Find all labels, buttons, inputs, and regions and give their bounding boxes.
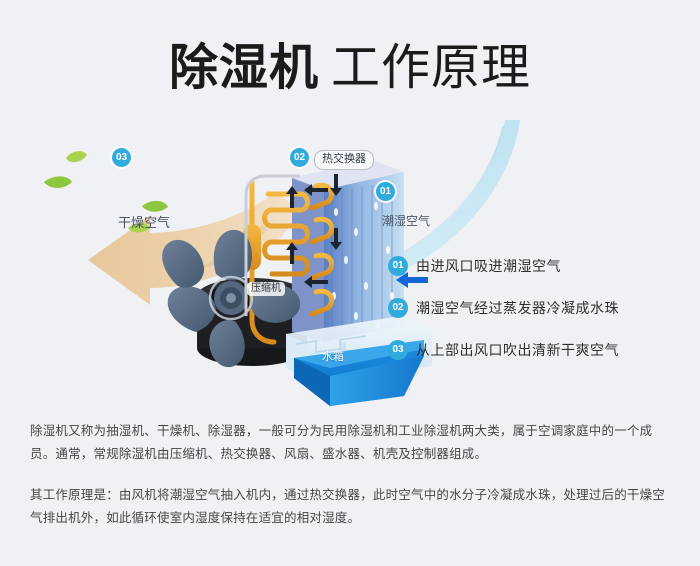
paragraph-1: 除湿机又称为抽湿机、干燥机、除湿器，一般可分为民用除湿机和工业除湿机两大类，属于… bbox=[30, 420, 675, 466]
illustration-badge-01: 01 bbox=[376, 182, 395, 201]
illustration-badge-02: 02 bbox=[290, 148, 309, 167]
dry-air-label: 干燥空气 bbox=[118, 212, 170, 231]
illustration-badge-03: 03 bbox=[112, 148, 131, 167]
step-list: 01 由进风口吸进潮湿空气 02 潮湿空气经过蒸发器冷凝成水珠 03 从上部出风… bbox=[388, 255, 688, 381]
step-item-02: 02 潮湿空气经过蒸发器冷凝成水珠 bbox=[388, 297, 688, 319]
step-text-03: 从上部出风口吹出清新干爽空气 bbox=[416, 340, 619, 360]
body-copy: 除湿机又称为抽湿机、干燥机、除湿器，一般可分为民用除湿机和工业除湿机两大类，属于… bbox=[30, 420, 675, 530]
page-title-bold: 除湿机 bbox=[169, 41, 319, 95]
page-title: 除湿机工作原理 bbox=[0, 28, 700, 99]
step-badge-03: 03 bbox=[388, 340, 408, 360]
paragraph-2: 其工作原理是：由风机将潮湿空气抽入机内，通过热交换器，此时空气中的水分子冷凝成水… bbox=[30, 484, 675, 530]
step-text-01: 由进风口吸进潮湿空气 bbox=[416, 256, 561, 276]
step-item-03: 03 从上部出风口吹出清新干爽空气 bbox=[388, 339, 688, 361]
page-title-light: 工作原理 bbox=[331, 41, 531, 95]
humid-air-label: 潮湿空气 bbox=[382, 212, 430, 229]
water-tank-label: 水箱 bbox=[322, 348, 344, 364]
heat-exchanger-callout: 热交换器 bbox=[314, 150, 374, 170]
step-badge-01: 01 bbox=[388, 256, 408, 276]
compressor-label: 压缩机 bbox=[247, 282, 285, 296]
step-item-01: 01 由进风口吸进潮湿空气 bbox=[388, 255, 688, 277]
step-badge-02: 02 bbox=[388, 298, 408, 318]
step-text-02: 潮湿空气经过蒸发器冷凝成水珠 bbox=[416, 298, 619, 318]
